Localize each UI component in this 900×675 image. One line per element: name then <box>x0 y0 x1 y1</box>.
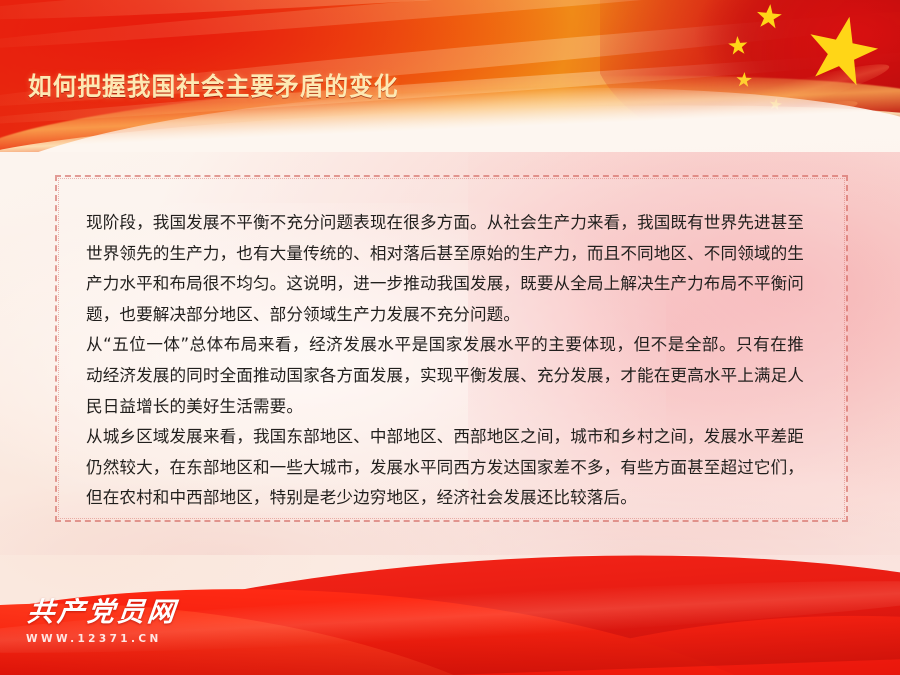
poster-slide: 如何把握我国社会主要矛盾的变化 现阶段，我国发展不平衡不充分问题表现在很多方面。… <box>0 0 900 675</box>
page-title: 如何把握我国社会主要矛盾的变化 <box>28 67 399 103</box>
body-text-block: 现阶段，我国发展不平衡不充分问题表现在很多方面。从社会生产力来看，我国既有世界先… <box>86 208 804 514</box>
footer-red-ribbons <box>0 500 900 675</box>
site-logo-url: WWW.12371.CN <box>26 633 176 645</box>
paragraph-1: 现阶段，我国发展不平衡不充分问题表现在很多方面。从社会生产力来看，我国既有世界先… <box>86 208 804 330</box>
paragraph-2: 从“五位一体”总体布局来看，经济发展水平是国家发展水平的主要体现，但不是全部。只… <box>86 330 804 422</box>
site-logo-name: 共产党员网 <box>26 599 179 626</box>
site-logo: 共产党员网 WWW.12371.CN <box>26 599 176 645</box>
